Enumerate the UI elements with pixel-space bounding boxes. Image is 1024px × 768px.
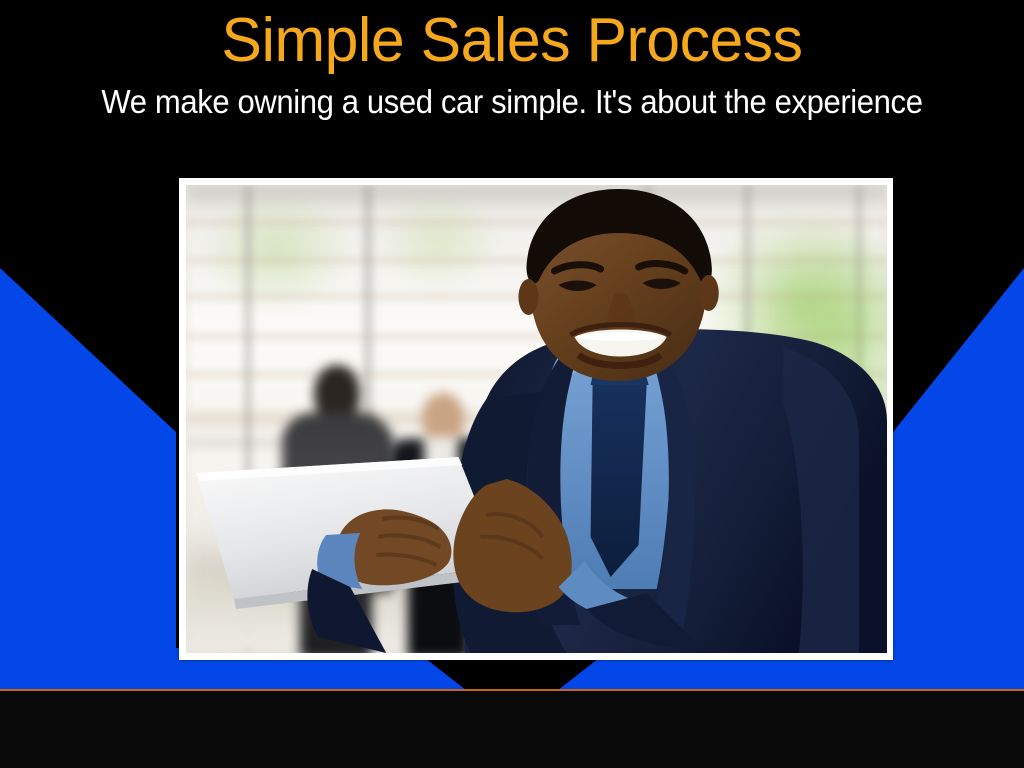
photo-subject-salesman (186, 185, 887, 653)
page-subtitle: We make owning a used car simple. It's a… (31, 82, 994, 122)
footer-divider (0, 689, 1024, 691)
hero-photo (186, 185, 887, 653)
header: Simple Sales Process We make owning a us… (0, 0, 1024, 145)
footer: MIDLANDS Honda Sales (844) 805-1973 See … (0, 690, 1024, 768)
page-title: Simple Sales Process (10, 6, 1014, 76)
slide-canvas: Simple Sales Process We make owning a us… (0, 0, 1024, 768)
hero-photo-frame (179, 178, 893, 660)
